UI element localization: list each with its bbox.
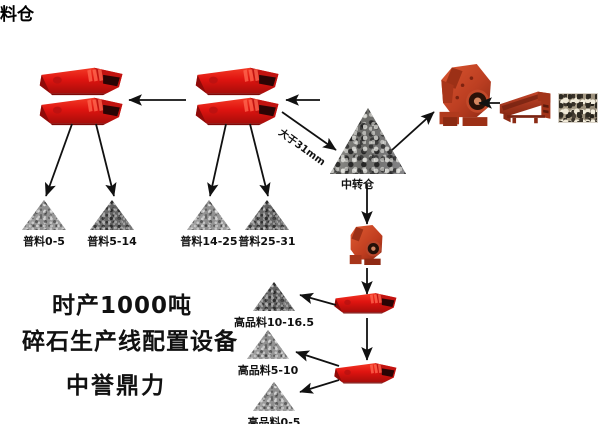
pile-label: 高品料5-10 bbox=[238, 362, 299, 378]
pile-shape bbox=[22, 200, 66, 230]
pile-label: 普料5-14 bbox=[87, 233, 137, 249]
oversize-flow-label: 大于31mm bbox=[276, 124, 329, 168]
material-pile bbox=[253, 282, 295, 311]
feed-bin-label: 料仓 bbox=[0, 0, 600, 25]
arrow-mid-screen-to-pile-14-25 bbox=[210, 124, 226, 196]
transfer-pile bbox=[330, 108, 406, 174]
pile-shape bbox=[90, 200, 134, 230]
pile-shape bbox=[245, 200, 289, 230]
pile-label: 普料14-25 bbox=[180, 233, 237, 249]
transfer-pile-shape bbox=[330, 108, 406, 174]
pile-label: 高品料0-5 bbox=[248, 414, 301, 424]
material-pile bbox=[253, 382, 295, 411]
arrow-screen-to-premium-10-165 bbox=[300, 295, 336, 305]
pile-label: 高品料10-16.5 bbox=[234, 314, 314, 330]
vibrating-screen-top-left bbox=[38, 66, 126, 100]
impact-crusher-secondary bbox=[347, 224, 387, 270]
pile-label: 普料0-5 bbox=[23, 233, 65, 249]
arrow-left-screen-to-pile-5-14 bbox=[96, 124, 114, 196]
arrow-left-screen-to-pile-0-5 bbox=[46, 124, 72, 196]
pile-shape bbox=[247, 330, 289, 359]
vibrating-feeder bbox=[498, 88, 554, 130]
vibrating-screen-bottom-mid bbox=[194, 96, 282, 130]
material-pile bbox=[22, 200, 66, 230]
material-pile bbox=[247, 330, 289, 359]
vibrating-screen-top-mid bbox=[194, 66, 282, 100]
material-pile bbox=[90, 200, 134, 230]
title-line-2: 碎石生产线配置设备 bbox=[22, 322, 238, 356]
title-line-3: 中誉鼎力 bbox=[66, 366, 166, 400]
transfer-pile-label: 中转仓 bbox=[341, 176, 374, 192]
title-line-1: 时产1000吨 bbox=[52, 286, 192, 320]
arrow-mid-screen-to-pile-25-31 bbox=[250, 124, 268, 196]
vibrating-screen-right-lower bbox=[333, 360, 399, 390]
raw-material-photo bbox=[558, 93, 598, 123]
pile-shape bbox=[187, 200, 231, 230]
pile-shape bbox=[253, 282, 295, 311]
vibrating-screen-bottom-left bbox=[38, 96, 126, 130]
impact-crusher-primary bbox=[436, 62, 498, 132]
pile-shape bbox=[253, 382, 295, 411]
material-pile bbox=[245, 200, 289, 230]
pile-label: 普料25-31 bbox=[238, 233, 295, 249]
material-pile bbox=[187, 200, 231, 230]
vibrating-screen-right-upper bbox=[333, 290, 399, 320]
production-line-diagram: 普料0-5普料5-14普料14-25普料25-31高品料10-16.5高品料5-… bbox=[0, 0, 600, 424]
